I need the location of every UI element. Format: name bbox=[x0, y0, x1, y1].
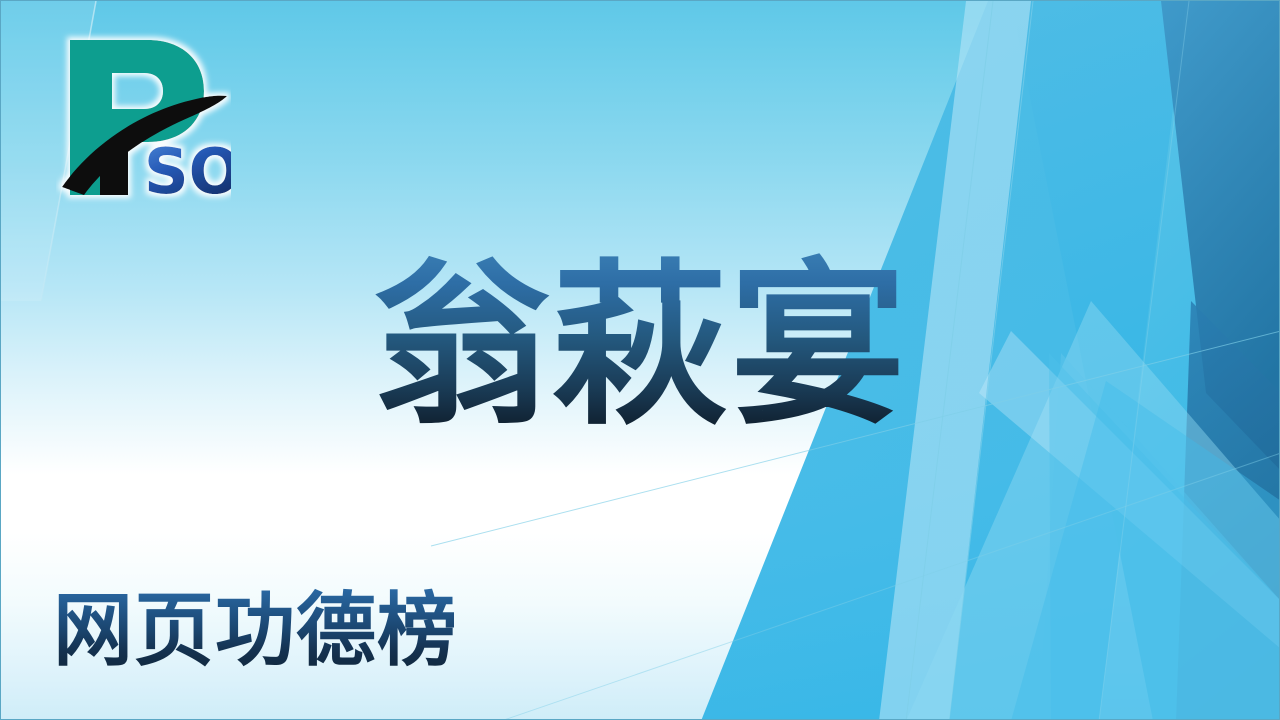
presentation-slide: SO 翁萩宴 网页功德榜 bbox=[0, 0, 1280, 720]
pso-logo: SO bbox=[56, 29, 231, 209]
slide-subtitle: 网页功德榜 bbox=[53, 585, 458, 677]
slide-title: 翁萩宴 bbox=[1, 247, 1280, 447]
deco-hairline-long-2 bbox=[501, 453, 1280, 720]
logo-wordmark: SO bbox=[144, 135, 231, 208]
